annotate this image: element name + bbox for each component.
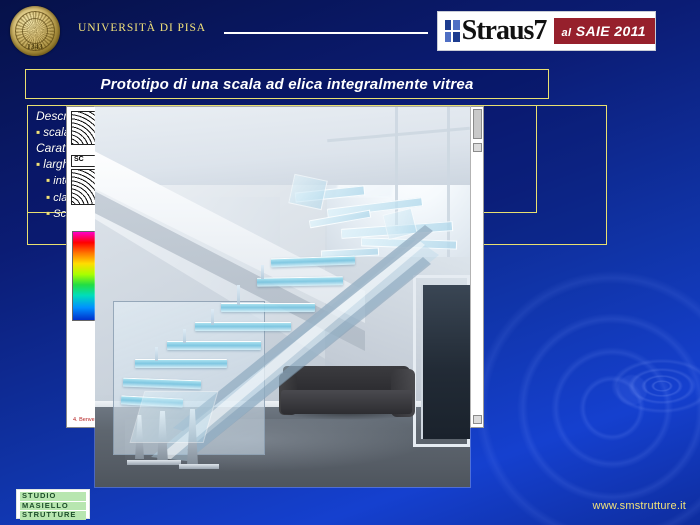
- bullet-marker-icon: ▪: [46, 190, 50, 204]
- studio-logo-line: STUDIO: [20, 492, 86, 501]
- photo-base-plate: [179, 464, 219, 469]
- straus7-wordmark: Straus7: [462, 17, 547, 45]
- website-url[interactable]: www.smstrutture.it: [593, 500, 686, 512]
- bullet-marker-icon: ▪: [46, 173, 50, 187]
- studio-logo-line: STRUTTURE: [20, 511, 86, 520]
- scroll-down-button[interactable]: [473, 415, 482, 424]
- photo-glass-tread: [135, 359, 227, 368]
- seal-inner-ring: [22, 18, 48, 44]
- photo-glass-tread: [221, 303, 315, 312]
- photo-tread-post: [261, 265, 264, 279]
- photo-tread-post: [155, 347, 158, 361]
- studio-masiello-logo: STUDIO MASIELLO STRUTTURE: [16, 489, 90, 519]
- photo-ceiling: [95, 107, 470, 185]
- page-title: Prototipo di una scala ad elica integral…: [100, 76, 473, 93]
- staircase-photo: [95, 107, 470, 487]
- scroll-up-button[interactable]: [473, 143, 482, 152]
- photo-glass-balustrade-base: [130, 391, 219, 443]
- photo-tread-post: [211, 309, 214, 325]
- studio-logo-line: MASIELLO: [20, 502, 86, 511]
- bullet-marker-icon: ▪: [46, 206, 50, 220]
- bullet-marker-icon: ▪: [36, 157, 40, 171]
- photo-tread-post: [237, 285, 240, 305]
- slide-header: 1343 UNIVERSITÀ DI PISA Straus7 al SAIE …: [0, 0, 700, 62]
- saie-badge-prefix: al: [561, 27, 571, 39]
- university-name: UNIVERSITÀ DI PISA: [78, 22, 206, 34]
- pisa-seal-icon: 1343: [10, 6, 60, 56]
- scrollbar-thumb[interactable]: [473, 109, 482, 139]
- window-scrollbar[interactable]: [470, 106, 484, 428]
- slide-title-box: Prototipo di una scala ad elica integral…: [25, 69, 549, 99]
- photo-sofa-seat: [281, 390, 412, 414]
- straus7-logo: Straus7 al SAIE 2011: [437, 11, 656, 51]
- photo-glass-tread: [195, 322, 291, 331]
- photo-tread-post: [183, 329, 186, 343]
- saie-badge-main: SAIE 2011: [576, 23, 646, 39]
- straus7-squares-icon: [445, 20, 460, 42]
- seal-year: 1343: [10, 43, 60, 51]
- photo-glass-tread: [257, 276, 343, 286]
- photo-base-plate: [127, 460, 181, 465]
- saie-2011-badge: al SAIE 2011: [554, 18, 655, 44]
- photo-dark-doorway: [421, 285, 470, 439]
- header-divider-line: [224, 32, 428, 34]
- photo-glass-tread: [167, 341, 261, 350]
- slide-canvas: 1343 UNIVERSITÀ DI PISA Straus7 al SAIE …: [0, 0, 700, 525]
- bullet-marker-icon: ▪: [36, 125, 40, 139]
